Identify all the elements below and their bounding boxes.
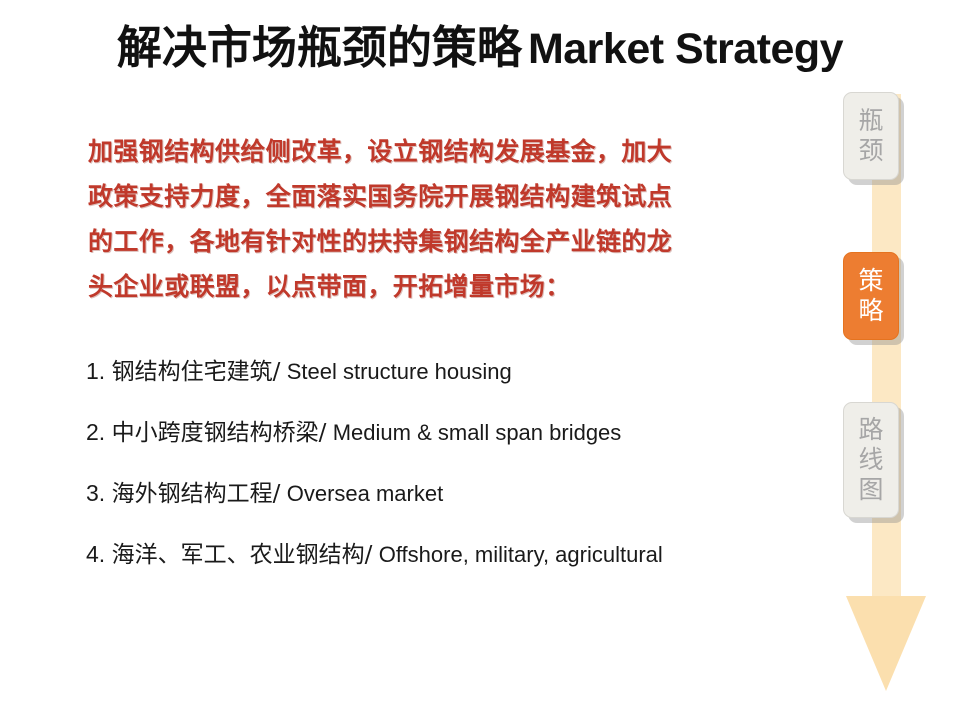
list-item-english: Steel structure housing [287,359,512,384]
page-title: 解决市场瓶颈的策略Market Strategy [0,24,960,74]
nav-item-label-char: 瓶 [858,106,883,136]
list-item-number: 4. [86,541,105,567]
nav-item-strategy[interactable]: 策 略 [843,252,899,340]
nav-item-label-char: 颈 [858,136,883,166]
list-item-chinese: 钢结构住宅建筑/ [112,359,281,385]
nav-item-label-char: 图 [858,475,883,505]
lead-paragraph: 加强钢结构供给侧改革，设立钢结构发展基金，加大 政策支持力度，全面落实国务院开展… [88,130,808,310]
list-item-chinese: 海洋、军工、农业钢结构/ [112,542,373,568]
numbered-list: 1. 钢结构住宅建筑/ Steel structure housing 2. 中… [86,358,846,602]
list-item: 1. 钢结构住宅建筑/ Steel structure housing [86,358,846,385]
slide-canvas: 解决市场瓶颈的策略Market Strategy 加强钢结构供给侧改革，设立钢结… [0,0,960,720]
list-item: 4. 海洋、军工、农业钢结构/ Offshore, military, agri… [86,541,846,568]
down-arrow-icon [846,596,926,691]
nav-item-label-char: 线 [858,445,883,475]
list-item-english: Medium & small span bridges [333,420,622,445]
page-title-chinese: 解决市场瓶颈的策略 [117,23,522,73]
list-item: 3. 海外钢结构工程/ Oversea market [86,480,846,507]
nav-item-bottleneck[interactable]: 瓶 颈 [843,92,899,180]
nav-item-label-char: 路 [858,415,883,445]
lead-paragraph-line: 政策支持力度，全面落实国务院开展钢结构建筑试点 [88,175,808,220]
nav-item-roadmap[interactable]: 路 线 图 [843,402,899,518]
nav-item-label-char: 策 [858,266,883,296]
list-item-english: Offshore, military, agricultural [379,542,663,567]
list-item-english: Oversea market [287,481,444,506]
navigation-rail: 瓶 颈 策 略 路 线 图 [820,84,960,676]
lead-paragraph-line: 头企业或联盟，以点带面，开拓增量市场： [88,265,808,310]
nav-item-label-char: 略 [858,296,883,326]
list-item-number: 3. [86,480,105,506]
list-item-number: 1. [86,358,105,384]
page-title-english: Market Strategy [528,25,843,73]
list-item-chinese: 中小跨度钢结构桥梁/ [112,420,327,446]
lead-paragraph-line: 的工作，各地有针对性的扶持集钢结构全产业链的龙 [88,220,808,265]
list-item-number: 2. [86,419,105,445]
list-item: 2. 中小跨度钢结构桥梁/ Medium & small span bridge… [86,419,846,446]
lead-paragraph-line: 加强钢结构供给侧改革，设立钢结构发展基金，加大 [88,130,808,175]
list-item-chinese: 海外钢结构工程/ [112,481,281,507]
